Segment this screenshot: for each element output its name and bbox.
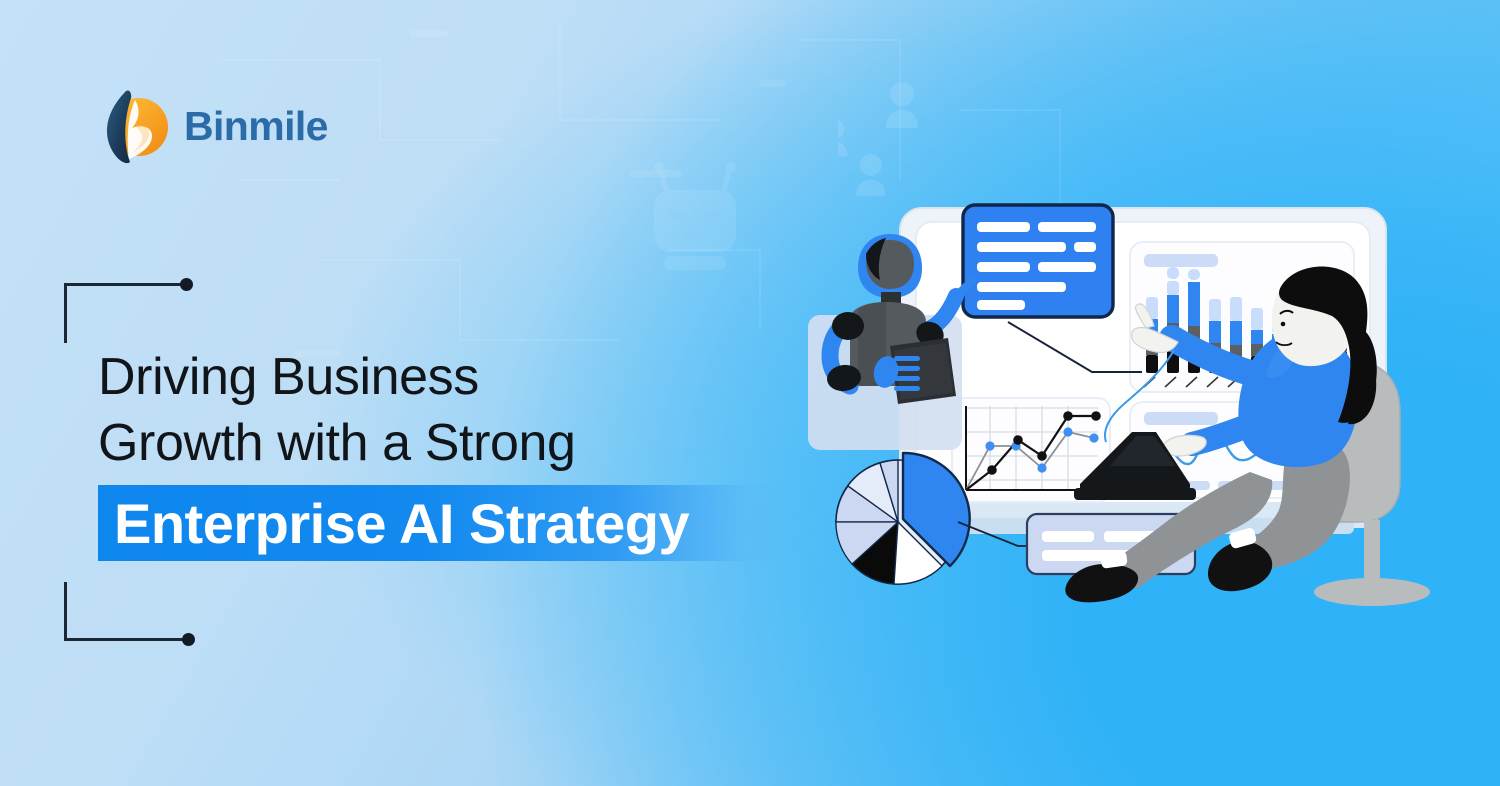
- ai-analytics-dashboard-illustration: [780, 150, 1480, 670]
- robot-face-watermark: [640, 160, 750, 280]
- headline-line-2: Growth with a Strong: [98, 410, 858, 476]
- brand-logo[interactable]: Binmile: [96, 86, 328, 166]
- headline-line-1: Driving Business: [98, 344, 858, 410]
- headline-highlight-text: Enterprise AI Strategy: [114, 489, 689, 559]
- segment-pie-chart: [836, 453, 970, 584]
- corner-bracket-bottom-left: [64, 582, 264, 644]
- brand-name: Binmile: [184, 103, 328, 150]
- corner-bracket-top-left: [64, 283, 264, 345]
- headline-block: Driving Business Growth with a Strong En…: [98, 344, 858, 561]
- hero-banner: Binmile Driving Business Growth with a S…: [0, 0, 1500, 786]
- binmile-logo-mark: [96, 86, 170, 166]
- headline-highlight: Enterprise AI Strategy: [98, 485, 798, 561]
- data-callout-card: [963, 205, 1113, 317]
